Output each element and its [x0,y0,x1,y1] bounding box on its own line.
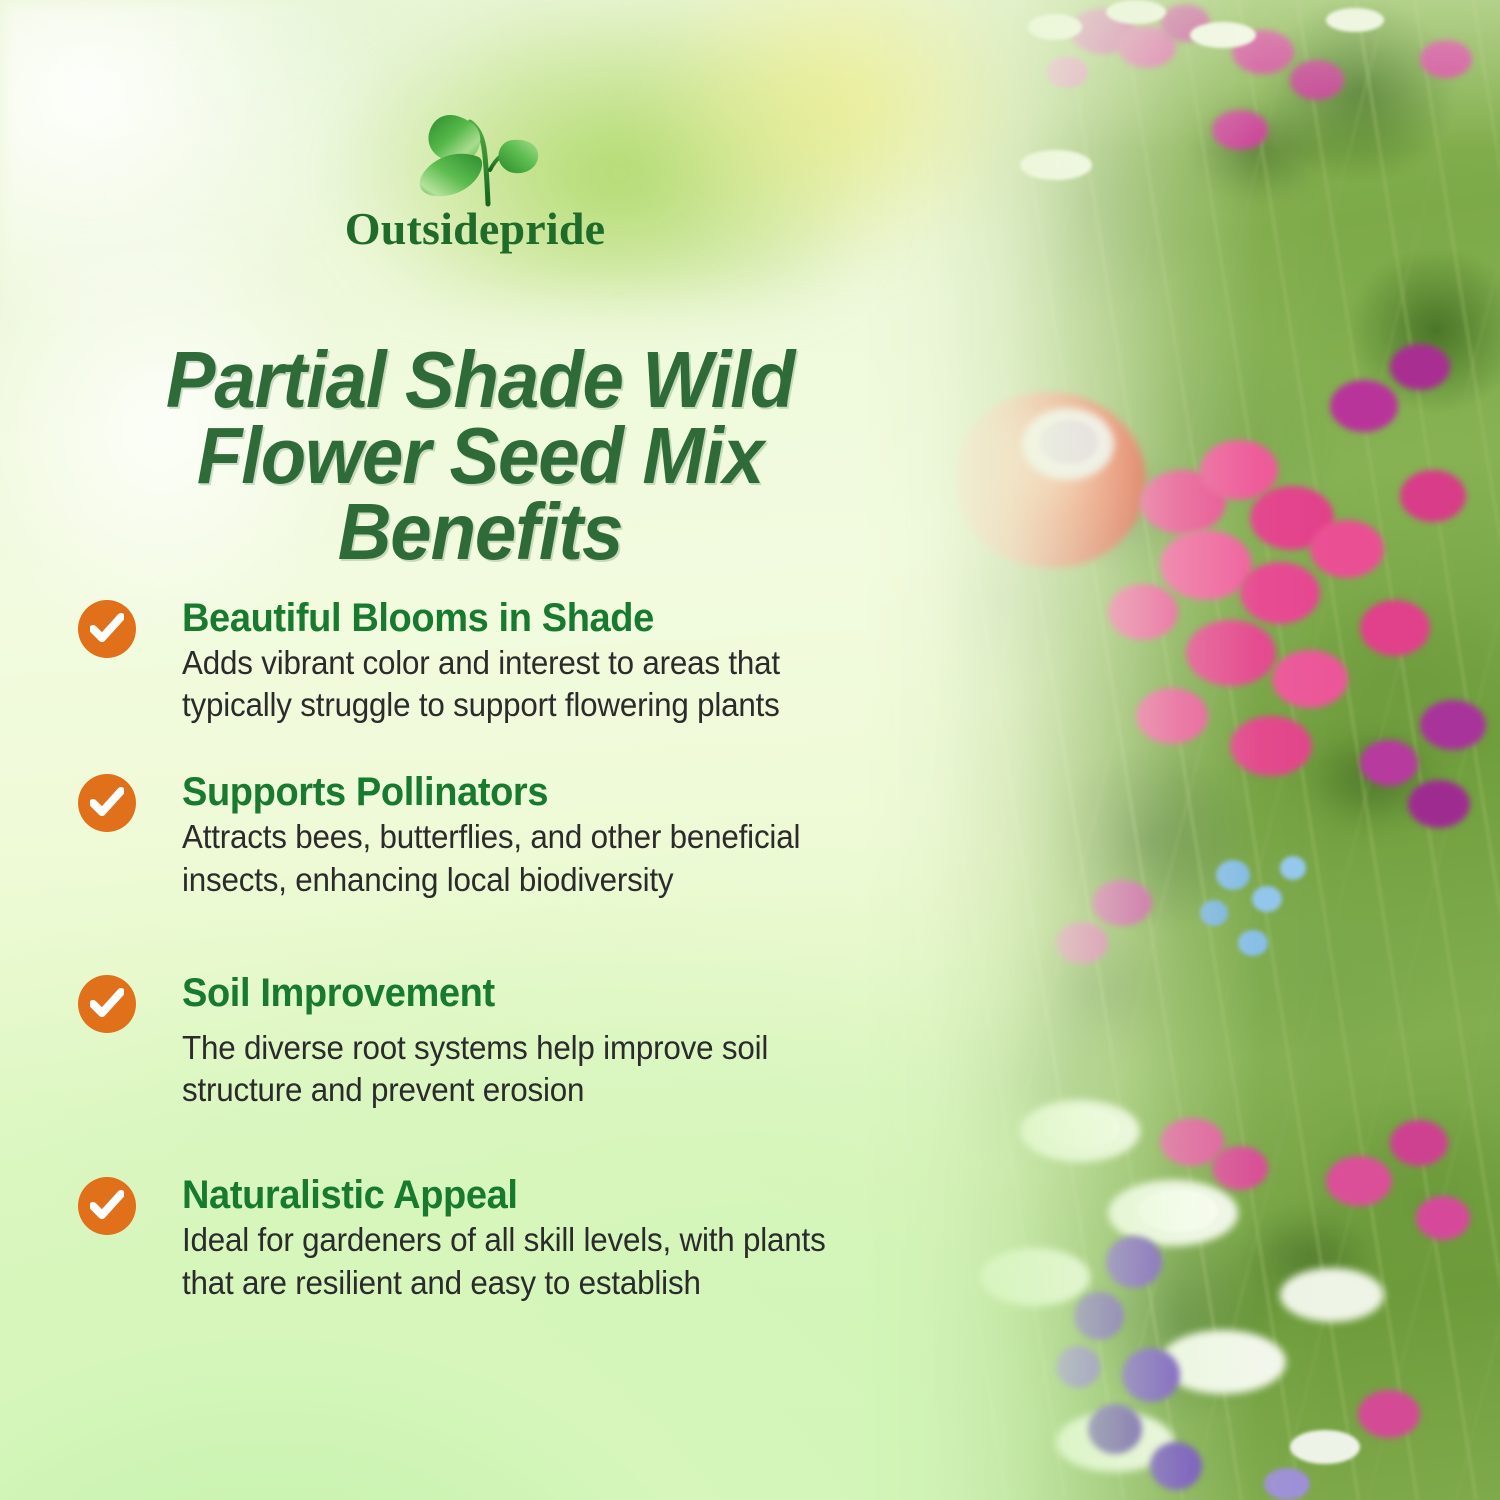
checkmark-glyph [90,787,124,819]
benefit-heading: Soil Improvement [182,971,881,1015]
benefit-item: Naturalistic Appeal Ideal for gardeners … [78,1173,918,1303]
wildflower-photo [860,0,1500,1500]
benefit-body: Attracts bees, butterflies, and other be… [182,816,881,900]
benefit-body: The diverse root systems help improve so… [182,1027,881,1111]
benefit-body-line: structure and prevent erosion [182,1069,881,1111]
benefit-body-line: Adds vibrant color and interest to areas… [182,642,881,684]
benefit-item: Supports Pollinators Attracts bees, butt… [78,770,918,900]
title-line-2: Flower Seed Mix [71,418,889,494]
check-circle-icon [78,1177,136,1235]
benefit-heading: Naturalistic Appeal [182,1173,881,1217]
title-line-1: Partial Shade Wild [71,342,889,418]
brand-wordmark: Outsidepride [0,206,950,252]
photo-top-fade [860,0,1500,150]
sprout-leaves-icon [400,100,550,212]
benefit-body-line: that are resilient and easy to establish [182,1262,881,1304]
benefit-body-line: typically struggle to support flowering … [182,684,881,726]
infographic-canvas: Outsidepride Partial Shade Wild Flower S… [0,0,1500,1500]
page-title: Partial Shade Wild Flower Seed Mix Benef… [40,342,920,570]
benefits-list: Beautiful Blooms in Shade Adds vibrant c… [78,596,918,1304]
benefit-item: Soil Improvement The diverse root system… [78,971,918,1111]
checkmark-glyph [90,988,124,1020]
benefit-body-line: insects, enhancing local biodiversity [182,859,881,901]
benefit-heading: Supports Pollinators [182,770,881,814]
checkmark-glyph [90,1190,124,1222]
benefit-body-line: Attracts bees, butterflies, and other be… [182,816,881,858]
check-circle-icon [78,600,136,658]
photo-left-veil [860,0,1500,1500]
benefit-body: Ideal for gardeners of all skill levels,… [182,1219,881,1303]
checkmark-glyph [90,613,124,645]
benefit-heading: Beautiful Blooms in Shade [182,596,881,640]
benefit-item: Beautiful Blooms in Shade Adds vibrant c… [78,596,918,726]
benefit-body: Adds vibrant color and interest to areas… [182,642,881,726]
brand-logo: Outsidepride [0,100,950,252]
content-column: Outsidepride Partial Shade Wild Flower S… [0,0,950,1500]
check-circle-icon [78,774,136,832]
benefit-body-line: Ideal for gardeners of all skill levels,… [182,1219,881,1261]
benefit-body-line: The diverse root systems help improve so… [182,1027,881,1069]
title-line-3: Benefits [71,494,889,570]
check-circle-icon [78,975,136,1033]
